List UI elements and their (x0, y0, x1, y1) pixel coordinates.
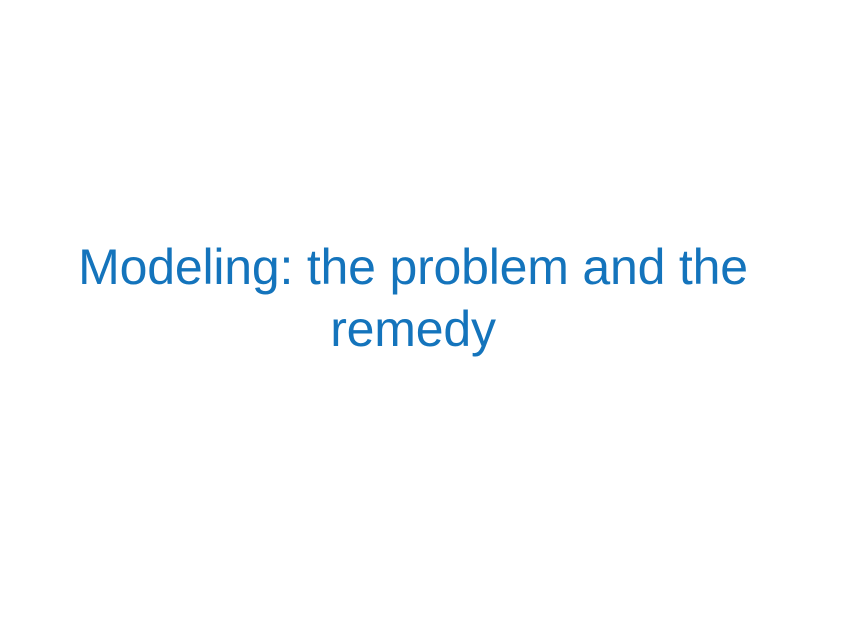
slide-canvas: Modeling: the problem and the remedy (0, 0, 848, 636)
slide-title: Modeling: the problem and the remedy (64, 236, 762, 360)
subtitle-placeholder[interactable] (64, 400, 762, 480)
title-placeholder[interactable]: Modeling: the problem and the remedy (64, 236, 762, 386)
